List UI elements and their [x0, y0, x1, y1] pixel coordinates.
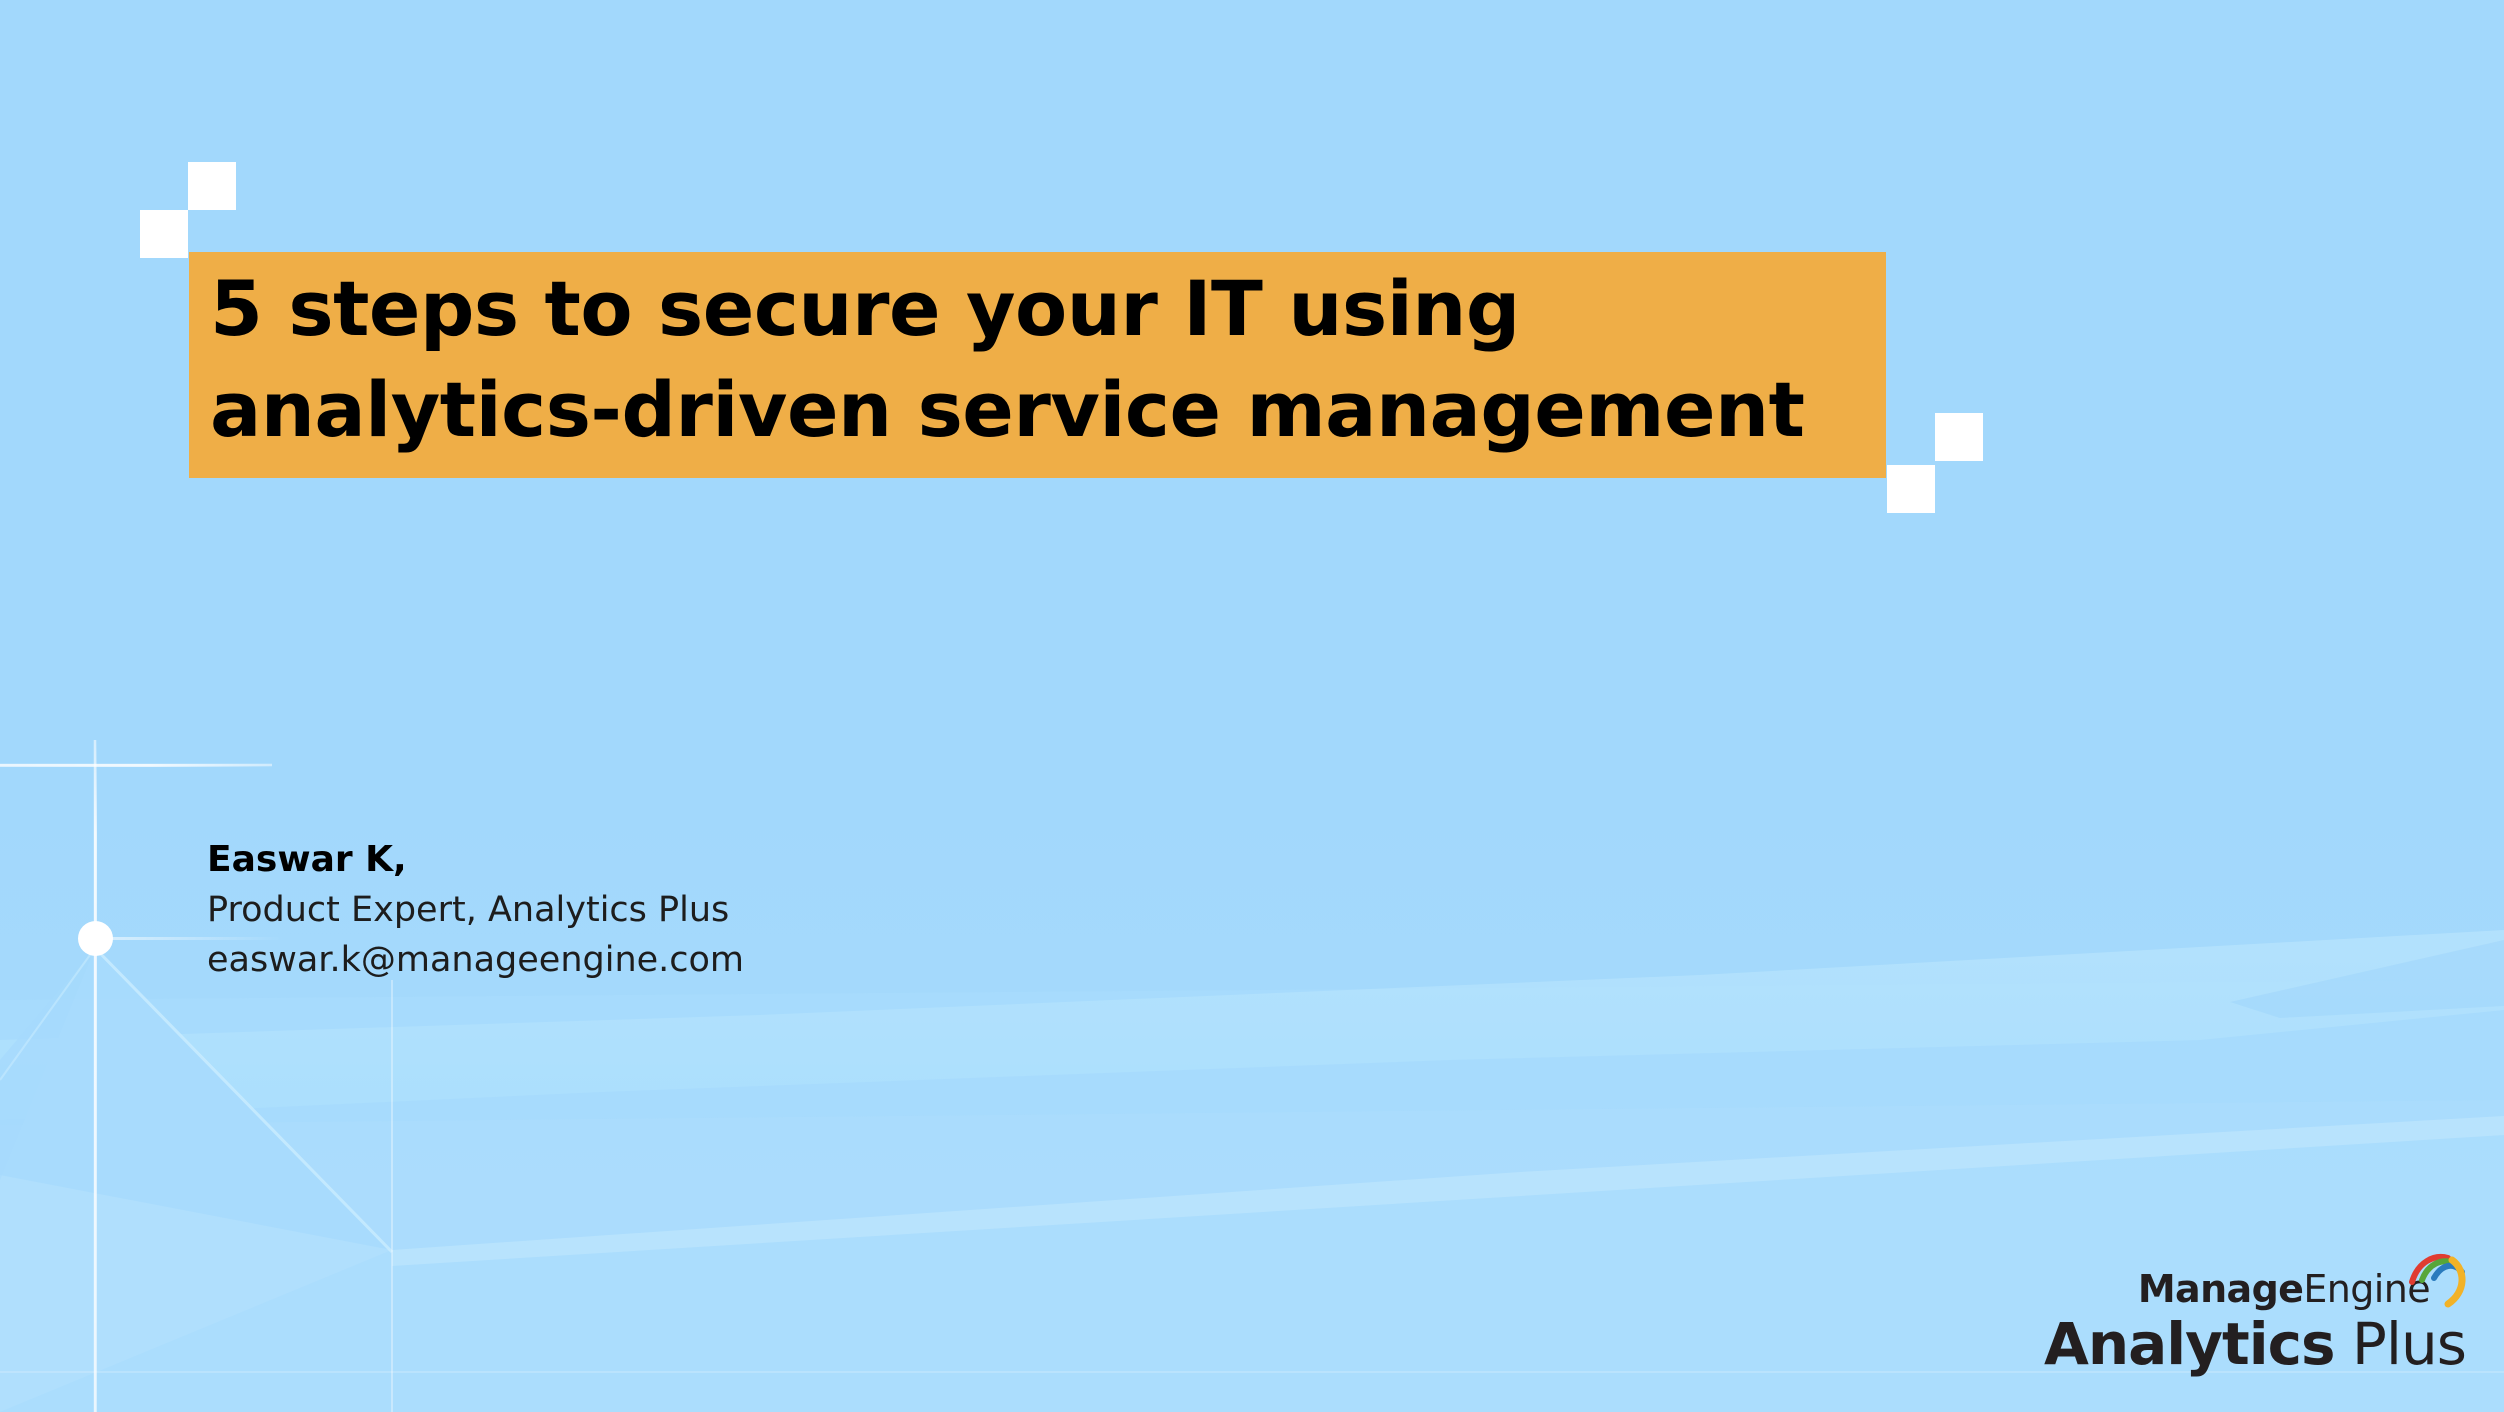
- crosshair-horizontal-line: [0, 764, 272, 767]
- logo-manage-text: Manage: [2138, 1267, 2304, 1311]
- page-title: 5 steps to secure your IT using analytic…: [210, 258, 1890, 460]
- manageengine-wordmark: ManageEngine: [2138, 1268, 2466, 1310]
- speaker-name: Easwar K,: [207, 835, 744, 885]
- decorative-square-top-left-lower: [140, 210, 188, 258]
- manageengine-analytics-plus-logo: ManageEngine Analytics Plus: [2044, 1268, 2466, 1376]
- logo-analytics-text: Analytics: [2044, 1310, 2335, 1378]
- title-slide: 5 steps to secure your IT using analytic…: [0, 0, 2504, 1412]
- decorative-square-top-left-upper: [188, 162, 236, 210]
- manageengine-swoosh-icon: [2408, 1250, 2472, 1312]
- speaker-info: Easwar K, Product Expert, Analytics Plus…: [207, 835, 744, 985]
- decorative-square-right-lower: [1887, 465, 1935, 513]
- speaker-role: Product Expert, Analytics Plus: [207, 885, 744, 935]
- crosshair-vertical-line: [94, 740, 97, 1412]
- speaker-email: easwar.k@manageengine.com: [207, 935, 744, 985]
- logo-plus-text: Plus: [2334, 1310, 2466, 1378]
- analytics-plus-wordmark: Analytics Plus: [2044, 1312, 2466, 1376]
- decorative-square-right-upper: [1935, 413, 1983, 461]
- decorative-dot: [78, 921, 113, 956]
- background-artwork: [0, 0, 2504, 1412]
